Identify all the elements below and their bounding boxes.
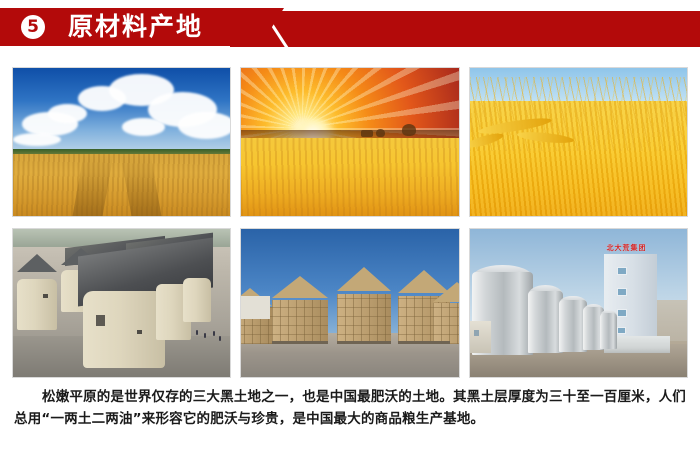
header-title-block-slant — [260, 8, 284, 46]
building-window — [617, 327, 626, 334]
cloud-icon — [122, 118, 165, 136]
scene-steel-tanks-factory: 北大荒集团 — [470, 229, 687, 377]
building-window — [617, 288, 627, 296]
warehouse-wall — [241, 296, 269, 320]
grain-stack-cap — [433, 282, 459, 302]
origin-description-text: 松嫩平原的是世界仅存的三大黑土地之一，也是中国最肥沃的土地。其黑土层厚度为三十至… — [14, 386, 686, 430]
wheat-awns-layer — [470, 77, 687, 151]
ribbon-bottom-line — [230, 47, 700, 49]
header-ribbon — [230, 5, 700, 52]
building-window — [617, 267, 627, 275]
silo-cone-roof — [17, 254, 57, 272]
scene-grain-silos-warehouse — [13, 229, 230, 377]
page-title: 原材料产地 — [68, 12, 203, 42]
storage-tank — [528, 291, 563, 353]
tree-silhouette — [376, 129, 385, 137]
gallery-image-grain-silos-warehouse[interactable] — [12, 228, 231, 378]
pump-house — [470, 321, 492, 354]
origin-image-gallery: 北大荒集团 — [12, 67, 688, 378]
scene-wheat-field-blue-sky — [13, 68, 230, 216]
cloud-icon — [48, 104, 87, 123]
gallery-image-wheat-field-blue-sky[interactable] — [12, 67, 231, 217]
gallery-image-covered-grain-stacks[interactable] — [240, 228, 459, 378]
ribbon-top-line — [230, 8, 700, 10]
cloud-icon — [178, 112, 230, 139]
silo-vent-window — [96, 315, 105, 326]
building-window — [617, 309, 627, 317]
pump-house-window — [474, 330, 479, 336]
silo-vent-window — [137, 330, 142, 334]
scene-wheat-field-sunset — [241, 68, 458, 216]
grain-stack-body — [433, 303, 459, 344]
storage-tank — [600, 313, 617, 349]
gallery-image-wheat-ears-closeup[interactable] — [469, 67, 688, 217]
scene-covered-grain-stacks — [241, 229, 458, 377]
stack-pallet — [398, 341, 450, 344]
tree-silhouette — [402, 124, 416, 136]
grain-stack-body — [272, 300, 328, 344]
grain-stack-cap — [272, 276, 328, 298]
stack-pallet — [272, 341, 328, 344]
silo-drum — [17, 279, 57, 329]
grain-stack-cap — [337, 267, 391, 291]
grain-stack-body — [337, 294, 391, 344]
harvester-silhouette — [361, 130, 373, 137]
gallery-image-steel-tanks-factory[interactable]: 北大荒集团 — [469, 228, 688, 378]
worker-figure — [204, 333, 206, 338]
silo-drum-large — [83, 291, 166, 368]
silo-vent-window — [43, 294, 48, 298]
worker-figure — [213, 331, 215, 336]
section-header-banner: 5 原材料产地 — [0, 0, 700, 52]
scene-wheat-ears-closeup — [470, 68, 687, 216]
silo-drum — [183, 278, 211, 322]
worker-figure — [196, 330, 198, 335]
stack-pallet — [337, 341, 391, 344]
section-number-badge: 5 — [21, 15, 45, 39]
gallery-image-wheat-field-sunset[interactable] — [240, 67, 459, 217]
building-sign: 北大荒集团 — [607, 244, 647, 252]
sun-rays-layer — [241, 68, 458, 138]
wheat-field-layer — [241, 138, 458, 216]
raw-material-origin-page: 5 原材料产地 — [0, 0, 700, 471]
